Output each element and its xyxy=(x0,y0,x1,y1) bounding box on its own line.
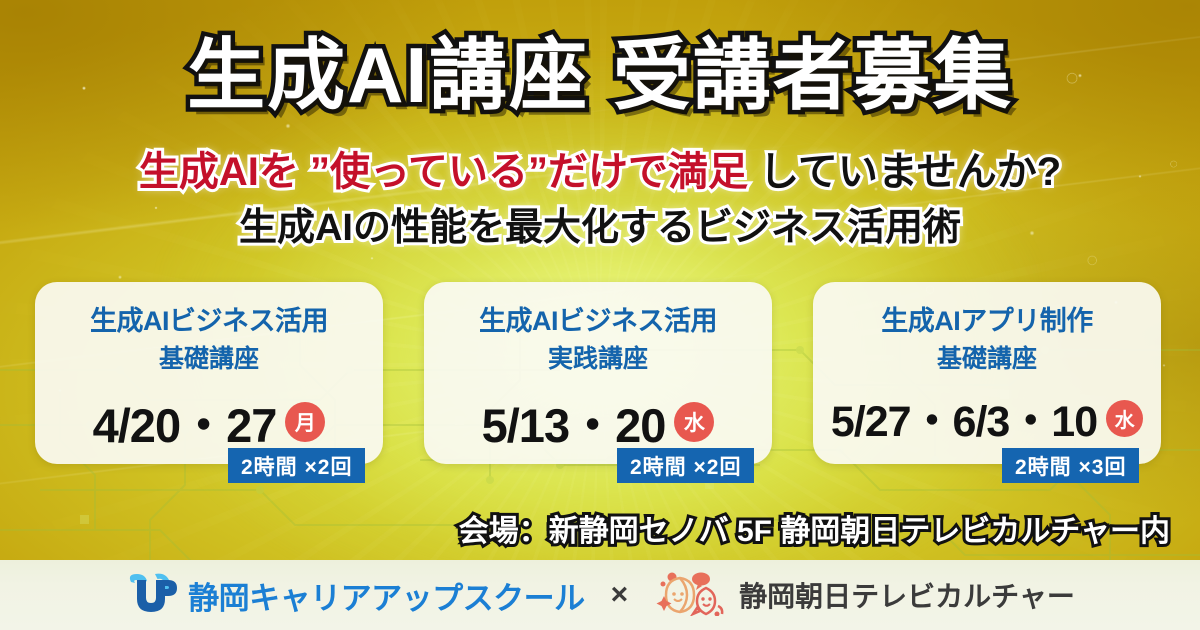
subtitle-line-1-highlight: 生成AIを ”使っている”だけで満足 xyxy=(139,150,748,194)
logo-shizuoka-asahi-tv-culture[interactable]: 静岡朝日テレビカルチャー xyxy=(654,570,1075,621)
poster-canvas: 生成AI講座 受講者募集 生成AIを ”使っている”だけで満足 していませんか?… xyxy=(0,0,1200,630)
course-card-list: 生成AIビジネス活用 基礎講座 4/20・27 月 生成AIビジネス活用 実践講… xyxy=(0,282,1200,472)
page-title: 生成AI講座 受講者募集 xyxy=(0,34,1200,117)
course-date-row: 5/13・20 水 xyxy=(424,387,772,456)
collaboration-separator-icon: × xyxy=(611,578,629,612)
subtitle-line-2: 生成AIの性能を最大化するビジネス活用術 xyxy=(0,205,1200,253)
footer-logo-bar: 静岡キャリアアップスクール × xyxy=(0,560,1200,630)
day-of-week-badge: 月 xyxy=(285,402,325,442)
course-date: 5/27・6/3・10 xyxy=(831,387,1097,449)
venue-text: 会場：新静岡セノバ 5F 静岡朝日テレビカルチャー内 xyxy=(459,506,1170,550)
course-date-row: 4/20・27 月 xyxy=(35,387,383,456)
up-mark-icon xyxy=(125,572,177,619)
logo-right-name: 静岡朝日テレビカルチャー xyxy=(739,575,1075,615)
day-of-week-badge: 水 xyxy=(674,402,714,442)
course-card[interactable]: 生成AIビジネス活用 実践講座 5/13・20 水 xyxy=(424,282,772,464)
mascot-characters-icon xyxy=(654,570,728,621)
course-title-line-1: 生成AIビジネス活用 xyxy=(35,299,383,338)
subtitle-line-1-rest: していませんか? xyxy=(748,150,1061,194)
day-of-week-badge: 水 xyxy=(1106,400,1143,437)
duration-badge: 2時間 ×2回 xyxy=(228,448,365,483)
duration-badge: 2時間 ×3回 xyxy=(1002,448,1139,483)
subtitle-line-1: 生成AIを ”使っている”だけで満足 していませんか? xyxy=(0,148,1200,197)
course-title-line-2: 実践講座 xyxy=(424,339,772,375)
course-title-line-2: 基礎講座 xyxy=(35,339,383,375)
poster-subtitle-block: 生成AIを ”使っている”だけで満足 していませんか? 生成AIの性能を最大化す… xyxy=(0,148,1200,252)
course-date: 5/13・20 xyxy=(482,387,666,456)
logo-shizuoka-career-up-school[interactable]: 静岡キャリアアップスクール xyxy=(125,572,585,619)
course-date-row: 5/27・6/3・10 水 xyxy=(813,387,1161,449)
course-card[interactable]: 生成AIアプリ制作 基礎講座 5/27・6/3・10 水 xyxy=(813,282,1161,464)
course-title-line-2: 基礎講座 xyxy=(813,339,1161,375)
course-title-line-1: 生成AIアプリ制作 xyxy=(813,299,1161,338)
course-title-line-1: 生成AIビジネス活用 xyxy=(424,299,772,338)
poster-title-block: 生成AI講座 受講者募集 xyxy=(0,34,1200,117)
duration-badge: 2時間 ×2回 xyxy=(617,448,754,483)
logo-left-name: 静岡キャリアアップスクール xyxy=(188,573,585,618)
course-card[interactable]: 生成AIビジネス活用 基礎講座 4/20・27 月 xyxy=(35,282,383,464)
course-date: 4/20・27 xyxy=(93,387,277,456)
